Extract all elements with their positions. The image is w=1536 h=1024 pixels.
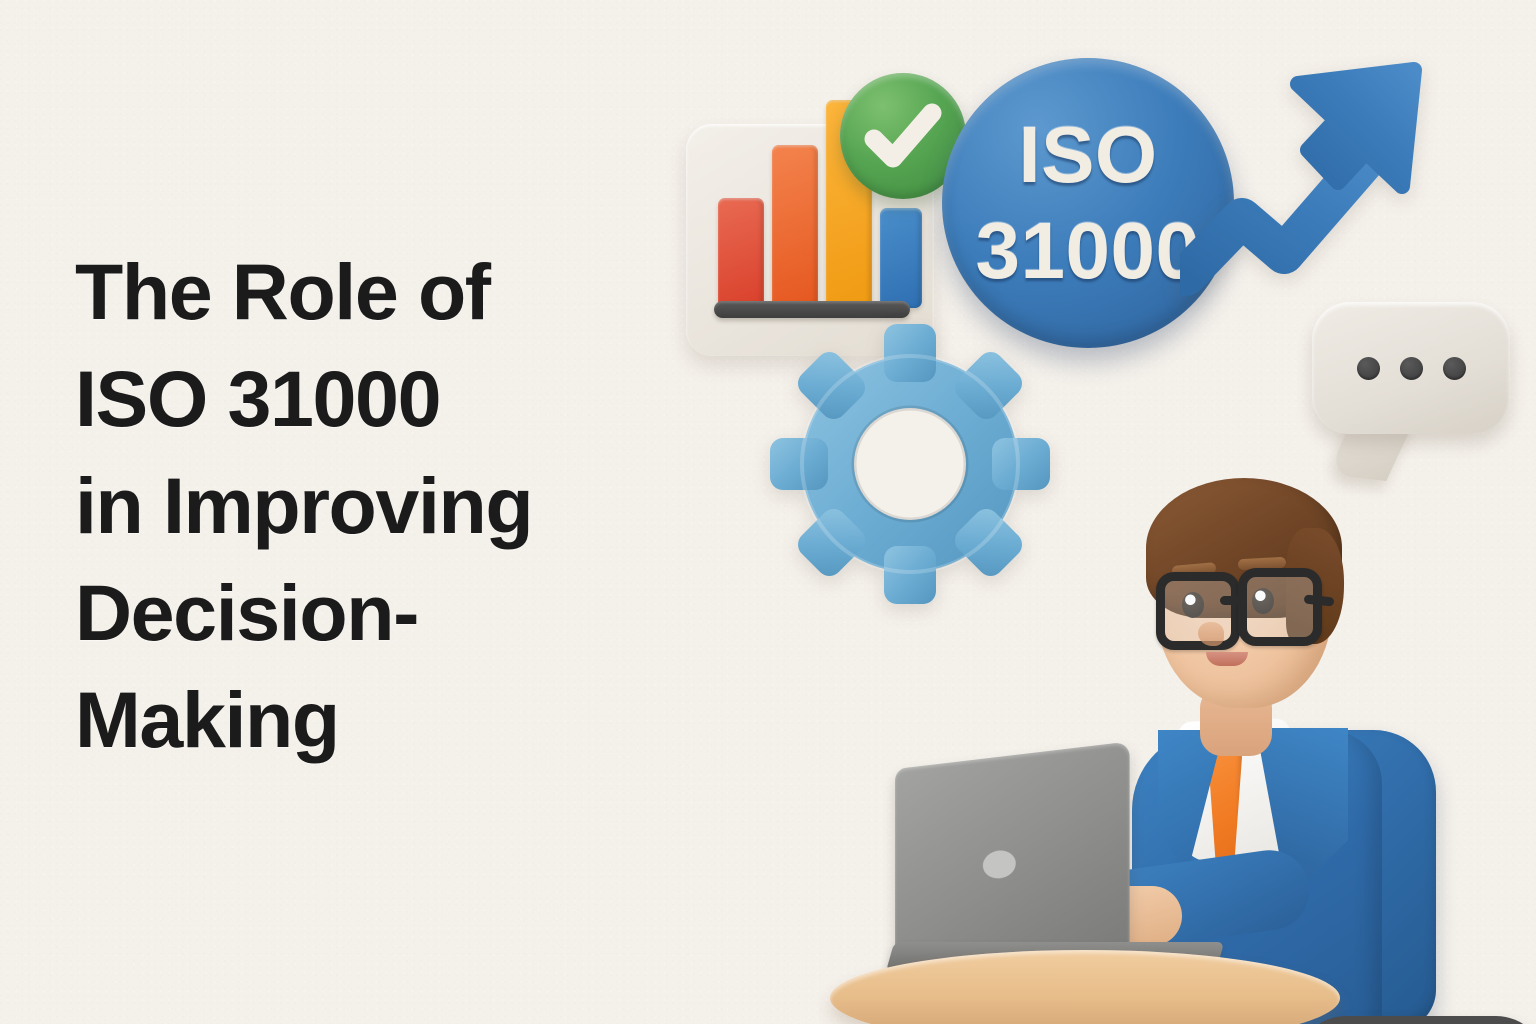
nose [1198, 622, 1224, 646]
title-line-4: Decision- [75, 559, 635, 666]
banner-canvas: The Role of ISO 31000 in Improving Decis… [0, 0, 1536, 1024]
page-title: The Role of ISO 31000 in Improving Decis… [75, 238, 635, 773]
laptop-screen [895, 741, 1130, 958]
title-line-1: The Role of [75, 238, 635, 345]
title-line-3: in Improving [75, 452, 635, 559]
glasses-bridge [1220, 596, 1242, 605]
workstation-scene [660, 30, 1536, 1024]
glasses-lens-right [1238, 568, 1322, 646]
title-line-5: Making [75, 666, 635, 773]
glasses-lens-left [1156, 572, 1240, 650]
illustration: ISO 31000 [660, 30, 1536, 1024]
laptop-logo-icon [983, 849, 1016, 879]
chair-armrest [1296, 1016, 1536, 1024]
title-line-2: ISO 31000 [75, 345, 635, 452]
